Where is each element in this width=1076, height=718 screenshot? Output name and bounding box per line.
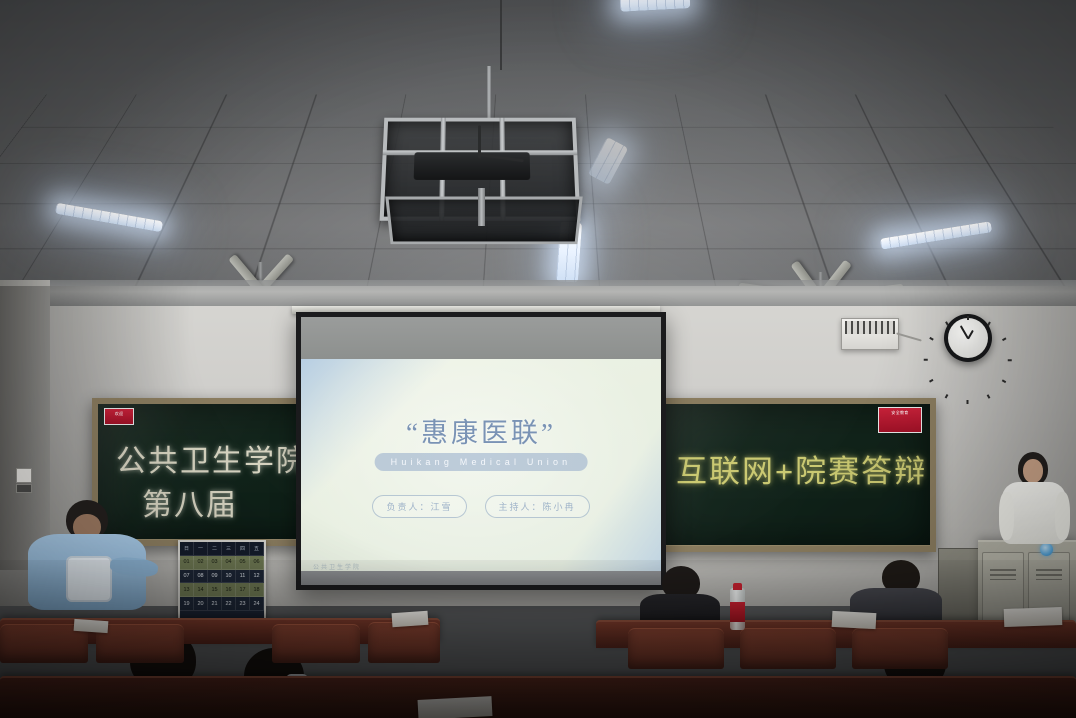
presenter-arm-left [999, 492, 1014, 540]
water-bottle-label [730, 602, 745, 622]
calendar-row: 07 08 09 10 11 12 [180, 570, 264, 584]
calendar-header-cell: 日 [180, 542, 194, 556]
clock-minute-hand [960, 325, 969, 339]
calendar-header-cell: 二 [208, 542, 222, 556]
blackboard-right-line-1: 互联网+院赛答辩 [676, 446, 927, 491]
calendar-cell: 15 [208, 583, 222, 597]
calendar-cell: 13 [180, 583, 194, 597]
calendar-cell: 02 [194, 556, 208, 570]
calendar-cell: 14 [194, 583, 208, 597]
calendar-cell: 04 [222, 556, 236, 570]
ac-vent-slats [845, 321, 895, 334]
calendar-cell: 08 [194, 570, 208, 584]
slide-subtitle: Huikang Medical Union [375, 453, 588, 471]
air-conditioner-vent [841, 318, 899, 350]
wall-clock [944, 314, 992, 362]
presenter-white-shirt [1000, 452, 1070, 562]
blackboard-right-sign: 安全教育 [878, 407, 922, 433]
calendar-cell: 07 [180, 570, 194, 584]
slide-credit-host: 主持人：陈小冉 [485, 495, 590, 518]
calendar-cell: 16 [222, 583, 236, 597]
blackboard-right-chalk-tray [662, 545, 930, 552]
seat-back [628, 628, 724, 669]
blackboard-left-sign: 欢迎 [104, 408, 134, 425]
projector-unit [414, 152, 531, 180]
calendar-cell: 21 [208, 597, 222, 611]
presentation-slide: “惠康医联” Huikang Medical Union 负责人：江雪 主持人：… [301, 359, 661, 585]
presenter-arm-right [1055, 492, 1070, 540]
calendar-cell: 19 [180, 597, 194, 611]
slide-credit-lead: 负责人：江雪 [372, 495, 466, 518]
calendar-header-cell: 三 [222, 542, 236, 556]
student-shirt-graphic [66, 556, 112, 602]
calendar-row: 13 14 15 16 17 18 [180, 583, 264, 597]
calendar-header-cell: 五 [250, 542, 264, 556]
clock-tick [967, 316, 969, 320]
ceiling-wire-left [500, 0, 502, 70]
calendar-row: 01 02 03 04 05 06 [180, 556, 264, 570]
desk-row-foreground [0, 676, 1076, 718]
calendar-header-cell: 一 [194, 542, 208, 556]
paper-documents [832, 611, 877, 629]
calendar-cell: 06 [250, 556, 264, 570]
projection-screen[interactable]: “惠康医联” Huikang Medical Union 负责人：江雪 主持人：… [296, 312, 666, 590]
calendar-cell: 17 [236, 583, 250, 597]
calendar-cell: 11 [236, 570, 250, 584]
seat-back [272, 624, 360, 663]
paper-documents [392, 611, 429, 627]
locker-vent-slits [990, 569, 1016, 580]
slide-light-glow [301, 359, 661, 585]
calendar-cell: 23 [236, 597, 250, 611]
calendar-cell: 24 [250, 597, 264, 611]
wall-calendar: 日 一 二 三 四 五 01 02 03 04 05 06 07 08 09 1… [178, 540, 266, 628]
calendar-cell: 03 [208, 556, 222, 570]
paper-documents [418, 696, 493, 718]
slide-credits-row: 负责人：江雪 主持人：陈小冉 [301, 495, 661, 518]
calendar-cell: 05 [236, 556, 250, 570]
calendar-header-row: 日 一 二 三 四 五 [180, 542, 264, 556]
blackboard-right: 互联网+院赛答辩 安全教育 [656, 398, 936, 552]
clock-tick [924, 359, 928, 361]
calendar-cell: 09 [208, 570, 222, 584]
calendar-header-cell: 四 [236, 542, 250, 556]
seat-back [368, 622, 440, 663]
calendar-cell: 01 [180, 556, 194, 570]
calendar-row: 19 20 21 22 23 24 [180, 597, 264, 611]
water-bottle-cap [733, 583, 742, 590]
seat-back [96, 624, 184, 663]
light-switch-panel[interactable] [16, 468, 32, 483]
student-standing-blue-shirt [18, 500, 158, 630]
slide-footer-text: 公共卫生学院 [313, 562, 361, 571]
seat-back [740, 628, 836, 669]
power-outlet-panel[interactable] [16, 484, 32, 493]
lecture-hall-photo: 公共卫生学院 第八届 欢迎 互联网+院赛答辩 安全教育 “惠康医联” Huika… [0, 0, 1076, 718]
paper-documents [74, 619, 109, 633]
cage-latch [478, 188, 485, 226]
clock-face [948, 318, 988, 358]
calendar-cell: 18 [250, 583, 264, 597]
locker-vent-slits [1036, 569, 1062, 580]
slide-title: “惠康医联” [301, 411, 661, 450]
screen-bottom-bar [301, 571, 661, 585]
paper-documents [1004, 607, 1063, 627]
calendar-cell: 20 [194, 597, 208, 611]
presenter-face [1023, 459, 1043, 483]
calendar-cell: 12 [250, 570, 264, 584]
screen-blank-band [301, 317, 661, 359]
clock-tick [1008, 359, 1012, 361]
seat-back [852, 628, 948, 669]
projector-hanger-rod [487, 66, 491, 120]
blackboard-left-line-1: 公共卫生学院 [116, 436, 308, 480]
calendar-cell: 10 [222, 570, 236, 584]
calendar-cell: 22 [222, 597, 236, 611]
